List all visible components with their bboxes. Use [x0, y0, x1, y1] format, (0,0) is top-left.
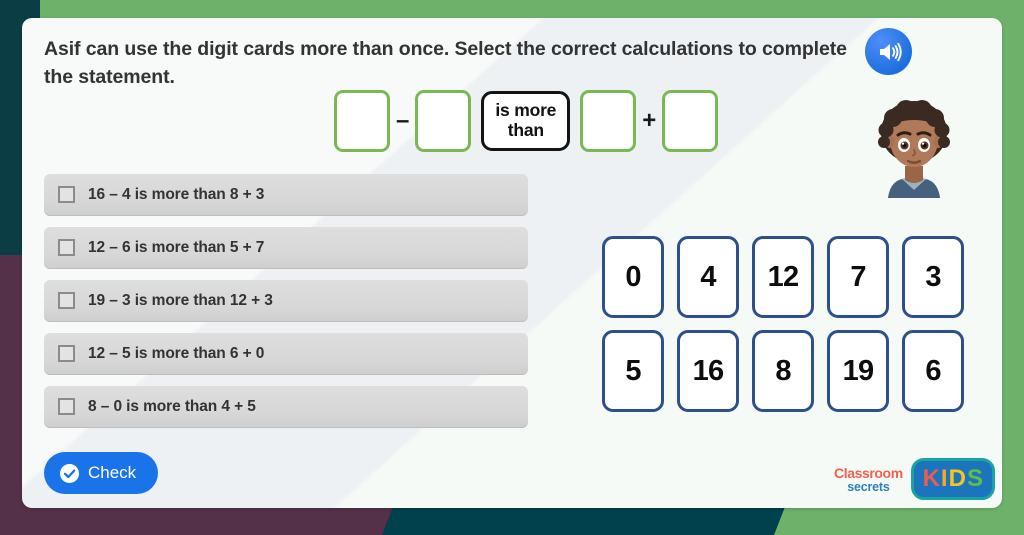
- kids-logo-letter-d: D: [949, 467, 966, 491]
- check-circle-icon: [60, 464, 79, 483]
- classroom-secrets-line1: Classroom: [834, 466, 903, 480]
- answer-slot-4[interactable]: [662, 90, 718, 152]
- kids-logo-letter-k: K: [923, 467, 940, 491]
- digit-card[interactable]: 12: [752, 236, 814, 318]
- kids-logo-letter-s: S: [967, 467, 983, 491]
- option-label: 16 – 4 is more than 8 + 3: [88, 186, 264, 204]
- answer-slot-2[interactable]: [415, 90, 471, 152]
- digit-card[interactable]: 5: [602, 330, 664, 412]
- option-checkbox[interactable]: [58, 345, 75, 362]
- option-row[interactable]: 8 – 0 is more than 4 + 5: [44, 386, 528, 428]
- minus-operator: –: [390, 109, 415, 133]
- option-label: 8 – 0 is more than 4 + 5: [88, 398, 256, 416]
- digit-card[interactable]: 16: [677, 330, 739, 412]
- digit-card[interactable]: 4: [677, 236, 739, 318]
- option-label: 12 – 5 is more than 6 + 0: [88, 345, 264, 363]
- is-more-than-line2: than: [508, 120, 544, 140]
- digit-card-row: 0 4 12 7 3: [602, 236, 964, 318]
- statement-builder: – is more than +: [334, 90, 718, 152]
- option-label: 19 – 3 is more than 12 + 3: [88, 292, 273, 310]
- is-more-than-box: is more than: [481, 91, 570, 151]
- digit-card[interactable]: 6: [902, 330, 964, 412]
- answer-options-list: 16 – 4 is more than 8 + 3 12 – 6 is more…: [44, 174, 528, 439]
- check-button-label: Check: [88, 463, 136, 483]
- digit-card[interactable]: 3: [902, 236, 964, 318]
- kids-logo: K I D S: [911, 458, 995, 500]
- digit-card-row: 5 16 8 19 6: [602, 330, 964, 412]
- activity-slide-card: Asif can use the digit cards more than o…: [22, 18, 1002, 508]
- avatar: [860, 90, 968, 198]
- digit-card[interactable]: 8: [752, 330, 814, 412]
- digit-card[interactable]: 7: [827, 236, 889, 318]
- kids-logo-letter-i: I: [941, 467, 948, 491]
- speaker-icon: [876, 40, 902, 64]
- classroom-secrets-logo: Classroom secrets: [834, 464, 903, 494]
- answer-slot-3[interactable]: [580, 90, 636, 152]
- digit-cards-grid: 0 4 12 7 3 5 16 8 19 6: [602, 236, 964, 424]
- answer-slot-1[interactable]: [334, 90, 390, 152]
- option-row[interactable]: 16 – 4 is more than 8 + 3: [44, 174, 528, 216]
- audio-play-button[interactable]: [865, 28, 912, 75]
- option-row[interactable]: 19 – 3 is more than 12 + 3: [44, 280, 528, 322]
- question-text: Asif can use the digit cards more than o…: [44, 36, 864, 91]
- classroom-secrets-line2: secrets: [834, 481, 903, 494]
- option-checkbox[interactable]: [58, 239, 75, 256]
- option-checkbox[interactable]: [58, 292, 75, 309]
- option-checkbox[interactable]: [58, 398, 75, 415]
- option-checkbox[interactable]: [58, 186, 75, 203]
- digit-card[interactable]: 19: [827, 330, 889, 412]
- option-label: 12 – 6 is more than 5 + 7: [88, 239, 264, 257]
- option-row[interactable]: 12 – 6 is more than 5 + 7: [44, 227, 528, 269]
- option-row[interactable]: 12 – 5 is more than 6 + 0: [44, 333, 528, 375]
- footer-logos: Classroom secrets K I D S: [834, 458, 995, 500]
- digit-card[interactable]: 0: [602, 236, 664, 318]
- is-more-than-line1: is more: [495, 100, 556, 120]
- check-button[interactable]: Check: [44, 452, 158, 494]
- plus-operator: +: [636, 109, 662, 133]
